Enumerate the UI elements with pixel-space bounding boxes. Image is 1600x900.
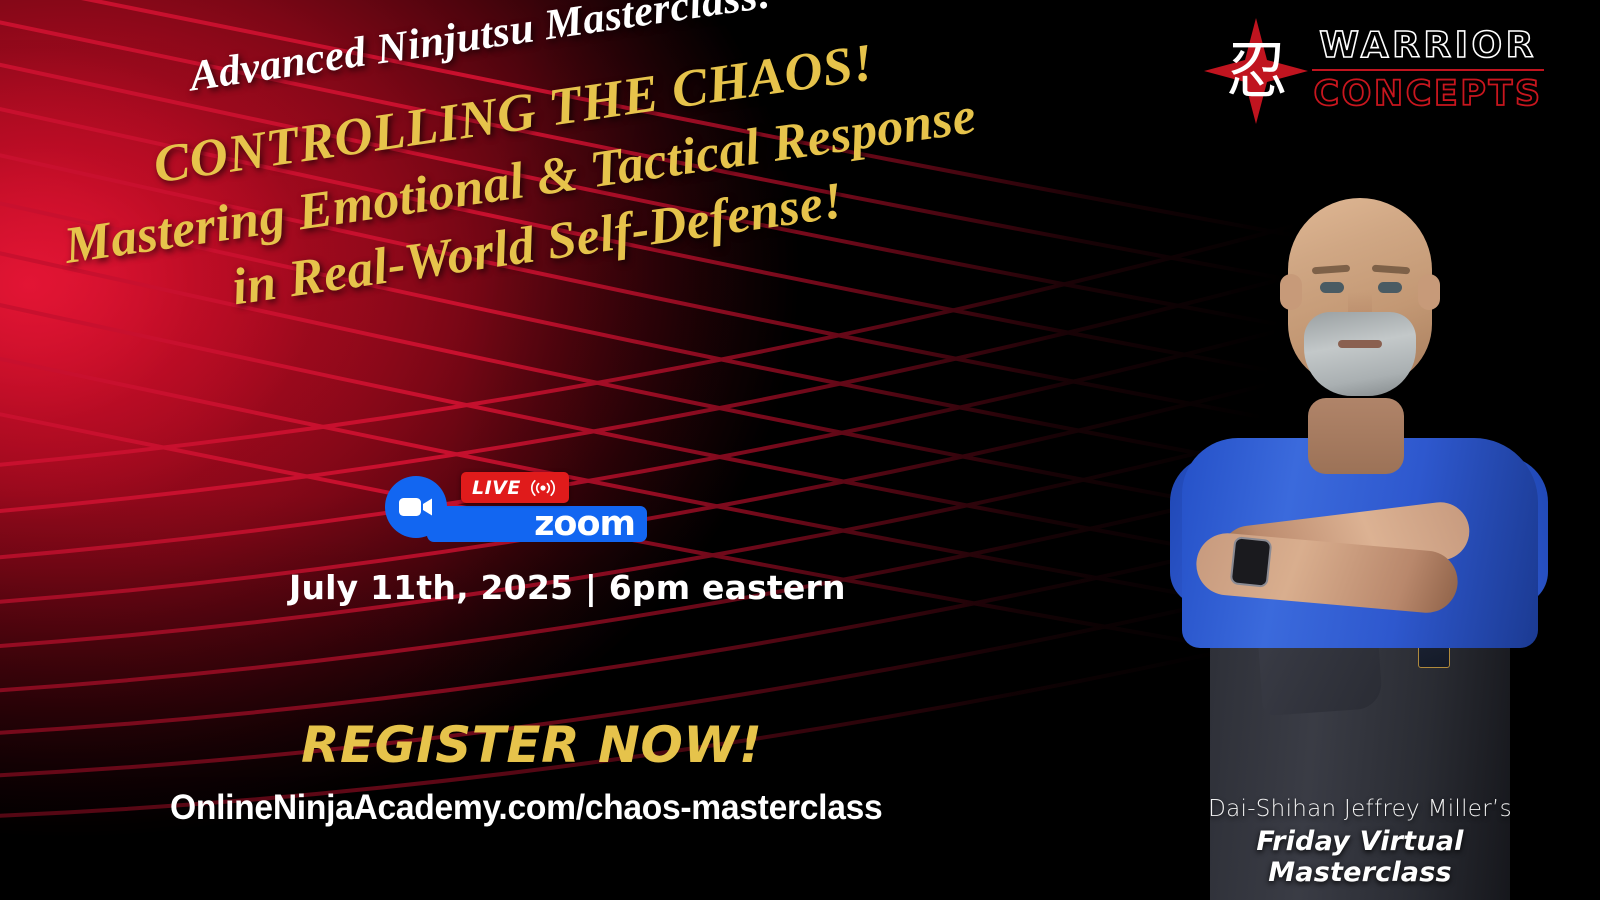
instructor-wristwatch xyxy=(1230,536,1273,588)
video-camera-icon xyxy=(399,496,433,518)
instructor-eye-left xyxy=(1320,282,1344,293)
brand-wordmark: WARRIOR CONCEPTS xyxy=(1312,26,1544,114)
instructor-photo: 忍 xyxy=(1100,170,1600,900)
presenter-name: Dai-Shihan Jeffrey Miller’s xyxy=(1160,796,1560,822)
instructor-eye-right xyxy=(1378,282,1402,293)
instructor-mouth xyxy=(1338,340,1382,348)
instructor-neck xyxy=(1308,398,1404,474)
zoom-live-badge: zoom LIVE xyxy=(385,472,647,542)
zoom-wordmark-bar: zoom xyxy=(427,506,647,542)
schedule-line: July 11th, 2025 | 6pm eastern xyxy=(289,568,846,607)
instructor-ear-right xyxy=(1418,274,1440,310)
kanji-glyph: 忍 xyxy=(1220,32,1294,110)
brand-word-concepts: CONCEPTS xyxy=(1312,74,1544,114)
register-now-label[interactable]: REGISTER NOW! xyxy=(301,716,762,774)
zoom-logo-circle xyxy=(385,476,447,538)
warrior-concepts-logo: 忍 WARRIOR CONCEPTS xyxy=(1204,18,1544,124)
registration-url[interactable]: OnlineNinjaAcademy.com/chaos-masterclass xyxy=(170,788,882,828)
brand-word-warrior: WARRIOR xyxy=(1312,26,1544,66)
presenter-caption: Dai-Shihan Jeffrey Miller’s Friday Virtu… xyxy=(1160,796,1560,888)
live-badge-label: LIVE xyxy=(472,477,521,499)
live-badge: LIVE xyxy=(461,472,569,503)
brand-divider-rule xyxy=(1312,69,1544,71)
broadcast-waves-icon xyxy=(528,479,558,497)
presenter-series-title: Friday Virtual Masterclass xyxy=(1160,826,1560,888)
instructor-ear-left xyxy=(1280,274,1302,310)
instructor-beard xyxy=(1304,312,1416,396)
zoom-wordmark-text: zoom xyxy=(534,507,635,542)
promo-poster: Advanced Ninjutsu Masterclass: CONTROLLI… xyxy=(0,0,1600,900)
